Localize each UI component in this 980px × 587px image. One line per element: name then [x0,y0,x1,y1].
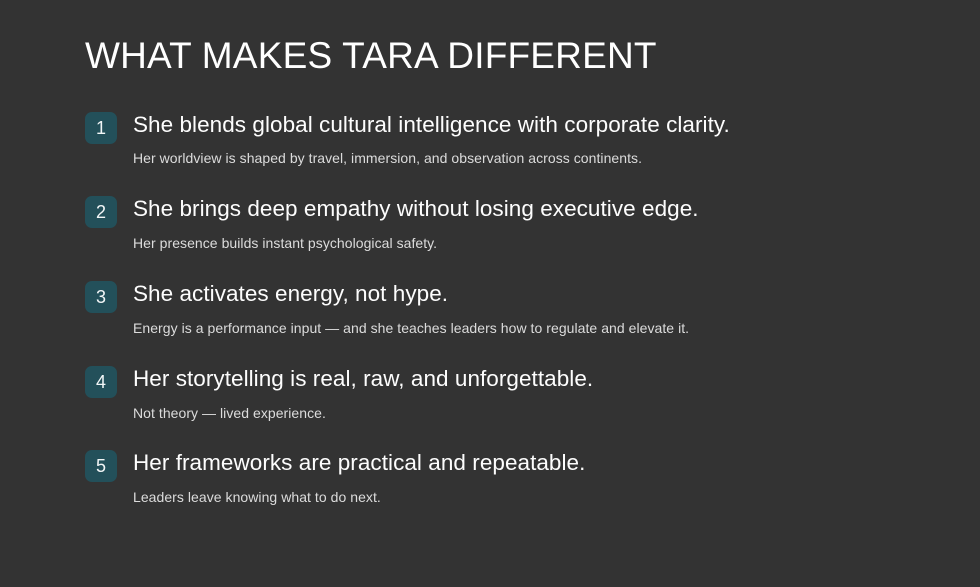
slide-canvas: WHAT MAKES TARA DIFFERENT 1 She blends g… [0,0,980,587]
item-number-badge: 4 [85,366,117,398]
list-item-heading: Her storytelling is real, raw, and unfor… [133,365,920,394]
item-number-badge: 1 [85,112,117,144]
list-item-body: Her storytelling is real, raw, and unfor… [117,365,920,423]
list-item-body: She activates energy, not hype. Energy i… [117,280,920,338]
item-number-badge: 2 [85,196,117,228]
list-item: 1 She blends global cultural intelligenc… [85,111,920,169]
list-item-heading: She brings deep empathy without losing e… [133,195,920,224]
list-item-heading: She blends global cultural intelligence … [133,111,920,140]
list-item-subtext: Her presence builds instant psychologica… [133,234,920,253]
list-item-body: She blends global cultural intelligence … [117,111,920,169]
item-number-badge: 5 [85,450,117,482]
list-item-subtext: Not theory — lived experience. [133,404,920,423]
list-item: 4 Her storytelling is real, raw, and unf… [85,365,920,423]
list-item-subtext: Energy is a performance input — and she … [133,319,920,338]
list-item: 3 She activates energy, not hype. Energy… [85,280,920,338]
list-item-body: Her frameworks are practical and repeata… [117,449,920,507]
item-number-badge: 3 [85,281,117,313]
list-item: 2 She brings deep empathy without losing… [85,195,920,253]
list-item-heading: She activates energy, not hype. [133,280,920,309]
differentiator-list: 1 She blends global cultural intelligenc… [85,111,920,507]
list-item-subtext: Her worldview is shaped by travel, immer… [133,149,920,168]
list-item-subtext: Leaders leave knowing what to do next. [133,488,920,507]
page-title: WHAT MAKES TARA DIFFERENT [85,36,920,77]
list-item-body: She brings deep empathy without losing e… [117,195,920,253]
list-item: 5 Her frameworks are practical and repea… [85,449,920,507]
list-item-heading: Her frameworks are practical and repeata… [133,449,920,478]
